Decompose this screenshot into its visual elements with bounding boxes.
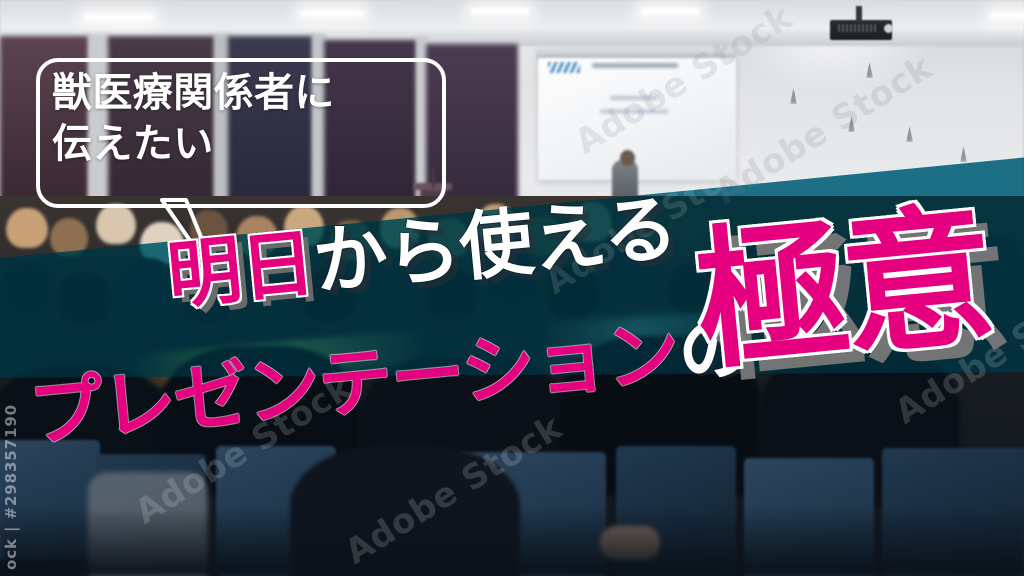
headline-group: 明日から使える プレゼンテーションの 極意	[0, 0, 1024, 576]
headline-line-2: プレゼンテーションの	[26, 309, 753, 452]
banner-canvas: Adobe Stock Adobe Stock Adobe Stock Adob…	[0, 0, 1024, 576]
headline-word-ashita: 明日	[164, 220, 318, 320]
headline-line-1: 明日から使える	[164, 191, 679, 314]
headline-word-karatsukaeru: から使える	[310, 185, 681, 306]
headline-accent-gokui: 極意	[690, 200, 995, 379]
headline-word-presentation: プレゼンテーション	[26, 310, 682, 458]
